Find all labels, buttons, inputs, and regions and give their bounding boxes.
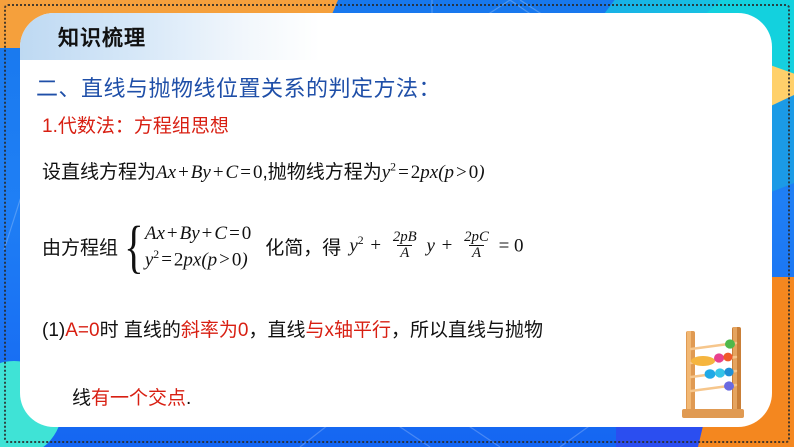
case-1-after-condition: 时 直线的 — [100, 320, 181, 341]
result-variable-y: y — [426, 235, 434, 256]
section-heading: 二、直线与抛物线位置关系的判定方法： — [36, 71, 441, 103]
section-badge: 知识梳理 — [20, 13, 320, 60]
setup-mid: ,抛物线方程为 — [262, 162, 381, 183]
case-1-comma: ，直线 — [248, 320, 305, 341]
slide-body: 二、直线与抛物线位置关系的判定方法： 1.代数法：方程组思想 设直线方程为Ax+… — [28, 63, 762, 421]
slide-root: 知识梳理 二、直线与抛物线位置关系的判定方法： 1.代数法：方程组思想 设直线方… — [0, 0, 794, 447]
fraction-numerator: 2pB — [390, 230, 420, 246]
equation-system: { Ax+By+C=0 y2=2px(p>0) — [120, 221, 251, 273]
case-1-index: (1) — [42, 320, 65, 341]
case-1-condition: A=0 — [65, 320, 99, 341]
case-1-slope-phrase: 斜率为0 — [181, 320, 249, 341]
system-equation-top: Ax+By+C=0 — [145, 221, 251, 247]
fraction-numerator: 2pC — [461, 230, 492, 246]
continuation-black-text: 线 — [72, 388, 91, 409]
abacus-bead-orange — [723, 353, 732, 362]
parabola-equation: y2=2px(p>0) — [382, 162, 485, 183]
abacus-bead-green — [725, 339, 735, 348]
system-equation-line: 由方程组 { Ax+By+C=0 y2=2px(p>0) 化简，得 y2 + 2… — [42, 221, 524, 273]
simplified-result: y2 + 2pB A y + 2pC A = 0 — [349, 231, 523, 263]
continuation-period: . — [186, 388, 191, 409]
abacus-bead-blue — [705, 369, 716, 379]
case-1-parallel-phrase: 与x轴平行 — [305, 320, 391, 341]
abacus-bead-blue-2 — [724, 368, 733, 377]
fraction-2pC-over-A: 2pC A — [461, 230, 492, 262]
section-badge-label: 知识梳理 — [58, 22, 146, 52]
setup-equation-line: 设直线方程为Ax+By+C=0,抛物线方程为y2=2px(p>0) — [42, 157, 485, 184]
system-connector: 化简，得 — [253, 233, 349, 260]
left-brace-glyph: { — [124, 224, 143, 270]
result-equals-zero: = 0 — [499, 235, 524, 256]
abacus-bead-yellow — [691, 356, 715, 366]
case-1-line: (1)A=0时 直线的斜率为0，直线与x轴平行，所以直线与抛物 — [42, 315, 543, 342]
abacus-icon — [672, 325, 756, 421]
case-1-tail: ，所以直线与抛物 — [391, 320, 543, 341]
subsection-heading: 1.代数法：方程组思想 — [42, 111, 229, 138]
fraction-2pB-over-A: 2pB A — [390, 230, 420, 262]
setup-prefix: 设直线方程为 — [42, 162, 156, 183]
system-prefix: 由方程组 — [42, 233, 118, 260]
fraction-denominator: A — [469, 245, 484, 262]
content-card: 知识梳理 二、直线与抛物线位置关系的判定方法： 1.代数法：方程组思想 设直线方… — [20, 13, 772, 427]
continuation-red-text: 有一个交点 — [91, 388, 186, 409]
abacus-bead-purple — [724, 381, 734, 390]
case-1-continuation-line: 线有一个交点. — [72, 383, 191, 410]
system-equation-bottom: y2=2px(p>0) — [145, 247, 251, 273]
abacus-bead-pink — [714, 353, 724, 362]
fraction-denominator: A — [397, 245, 412, 262]
abacus-bead-cyan — [715, 368, 725, 377]
line-equation: Ax+By+C=0 — [156, 162, 262, 183]
